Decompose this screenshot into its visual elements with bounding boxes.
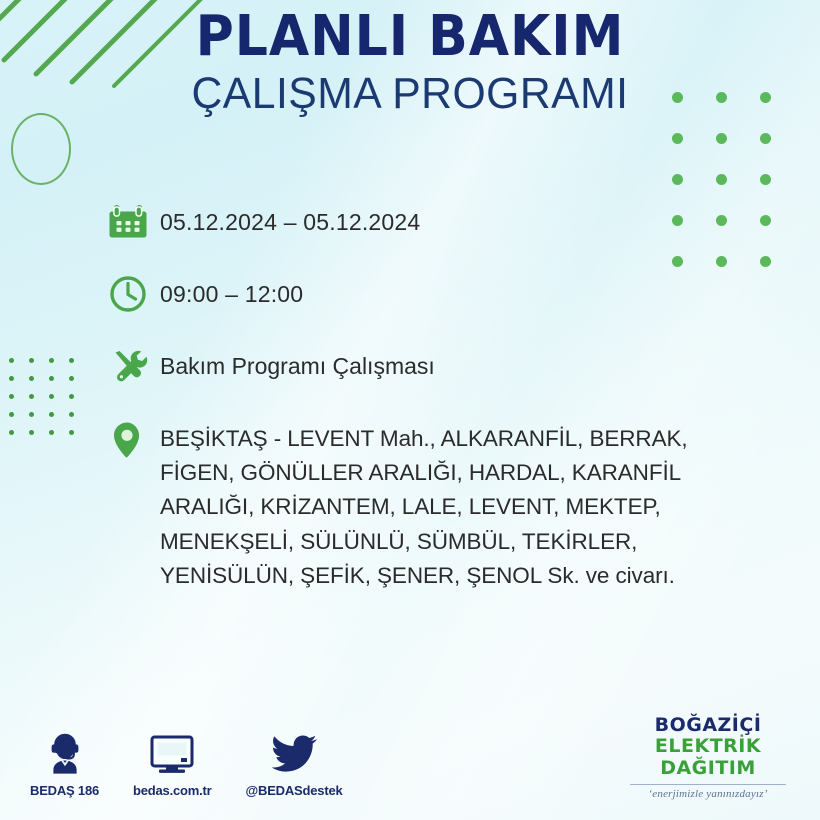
brand-line-3: DAĞITIM [618, 758, 798, 779]
brand-divider [630, 784, 786, 785]
brand-line-1: BOĞAZİÇİ [618, 715, 798, 736]
call-center-agent-icon [44, 730, 86, 776]
contact-website[interactable]: bedas.com.tr [133, 730, 212, 798]
contact-twitter-label: @BEDASdestek [246, 783, 343, 798]
twitter-bird-icon [270, 730, 318, 776]
time-range-text: 09:00 – 12:00 [160, 272, 303, 312]
brand-tagline: ‘enerjimizle yanınızdayız’ [618, 788, 798, 800]
poster-header: PLANLI BAKIM ÇALIŞMA PROGRAMI [0, 8, 820, 120]
monitor-icon [148, 730, 196, 776]
address-text: BEŞİKTAŞ - LEVENT Mah., ALKARANFİL, BERR… [160, 416, 760, 593]
contact-twitter[interactable]: @BEDASdestek [246, 730, 343, 798]
detail-row-date: 05.12.2024 – 05.12.2024 [108, 200, 768, 248]
circle-outline-decoration [11, 113, 71, 185]
contact-website-label: bedas.com.tr [133, 783, 212, 798]
maintenance-details: 05.12.2024 – 05.12.2024 09:00 – 12:00 [108, 200, 768, 593]
planned-maintenance-poster: PLANLI BAKIM ÇALIŞMA PROGRAMI [0, 0, 820, 820]
calendar-icon [108, 200, 160, 248]
bedas-logo: BOĞAZİÇİ ELEKTRİK DAĞITIM ‘enerjimizle y… [618, 715, 798, 800]
date-range-text: 05.12.2024 – 05.12.2024 [160, 200, 420, 240]
detail-row-address: BEŞİKTAŞ - LEVENT Mah., ALKARANFİL, BERR… [108, 416, 768, 593]
clock-icon [108, 272, 160, 320]
page-title: PLANLI BAKIM [29, 8, 792, 65]
work-type-text: Bakım Programı Çalışması [160, 344, 435, 384]
dot-grid-decoration-left [9, 358, 89, 448]
tools-icon [108, 344, 160, 392]
brand-line-2: ELEKTRİK [618, 736, 798, 757]
contact-phone[interactable]: BEDAŞ 186 [30, 730, 99, 798]
contact-phone-label: BEDAŞ 186 [30, 783, 99, 798]
poster-footer: BEDAŞ 186 bedas.com.tr [0, 700, 820, 820]
detail-row-time: 09:00 – 12:00 [108, 272, 768, 320]
contact-list: BEDAŞ 186 bedas.com.tr [30, 730, 377, 798]
page-subtitle: ÇALIŞMA PROGRAMI [12, 69, 807, 120]
location-pin-icon [108, 416, 160, 464]
detail-row-work-type: Bakım Programı Çalışması [108, 344, 768, 392]
